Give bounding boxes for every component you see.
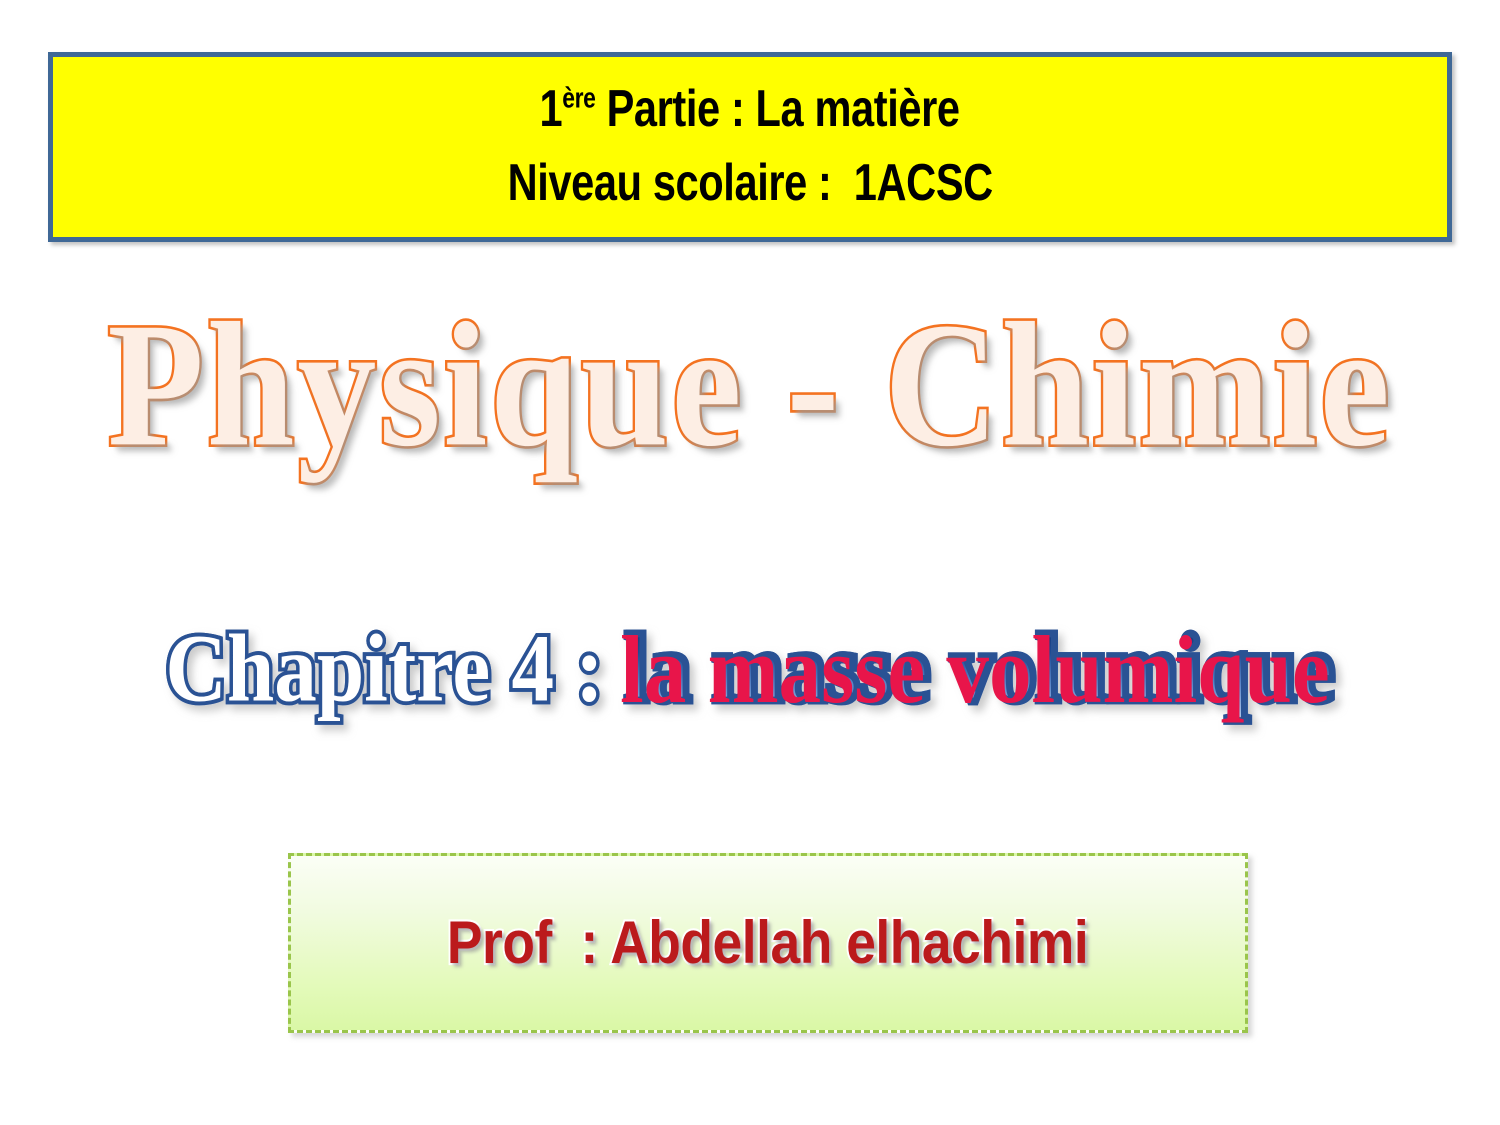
chapter-subject-fill: la masse volumique (620, 621, 1330, 717)
chapter-title-prefix: Chapitre 4 : Chapitre 4 : (165, 620, 625, 716)
page-title: Physique - Chimie (45, 296, 1455, 474)
chapter-title: Chapitre 4 : Chapitre 4 : la masse volum… (8, 620, 1493, 716)
header-partie-ordinal-suffix: ère (563, 83, 596, 115)
chapter-prefix-fill: Chapitre 4 : (165, 614, 625, 722)
professor-name: Prof : Abdellah elhachimi (447, 913, 1088, 973)
chapter-title-subject: la masse volumiquela masse volumique (625, 620, 1335, 716)
header-banner: 1ère Partie : La matière Niveau scolaire… (48, 52, 1452, 242)
header-line-niveau: Niveau scolaire : 1ACSC (507, 147, 992, 221)
header-line-partie: 1ère Partie : La matière (540, 73, 960, 147)
professor-box: Prof : Abdellah elhachimi (288, 853, 1248, 1033)
header-partie-number: 1 (540, 80, 563, 138)
header-partie-rest: Partie : La matière (596, 80, 960, 138)
